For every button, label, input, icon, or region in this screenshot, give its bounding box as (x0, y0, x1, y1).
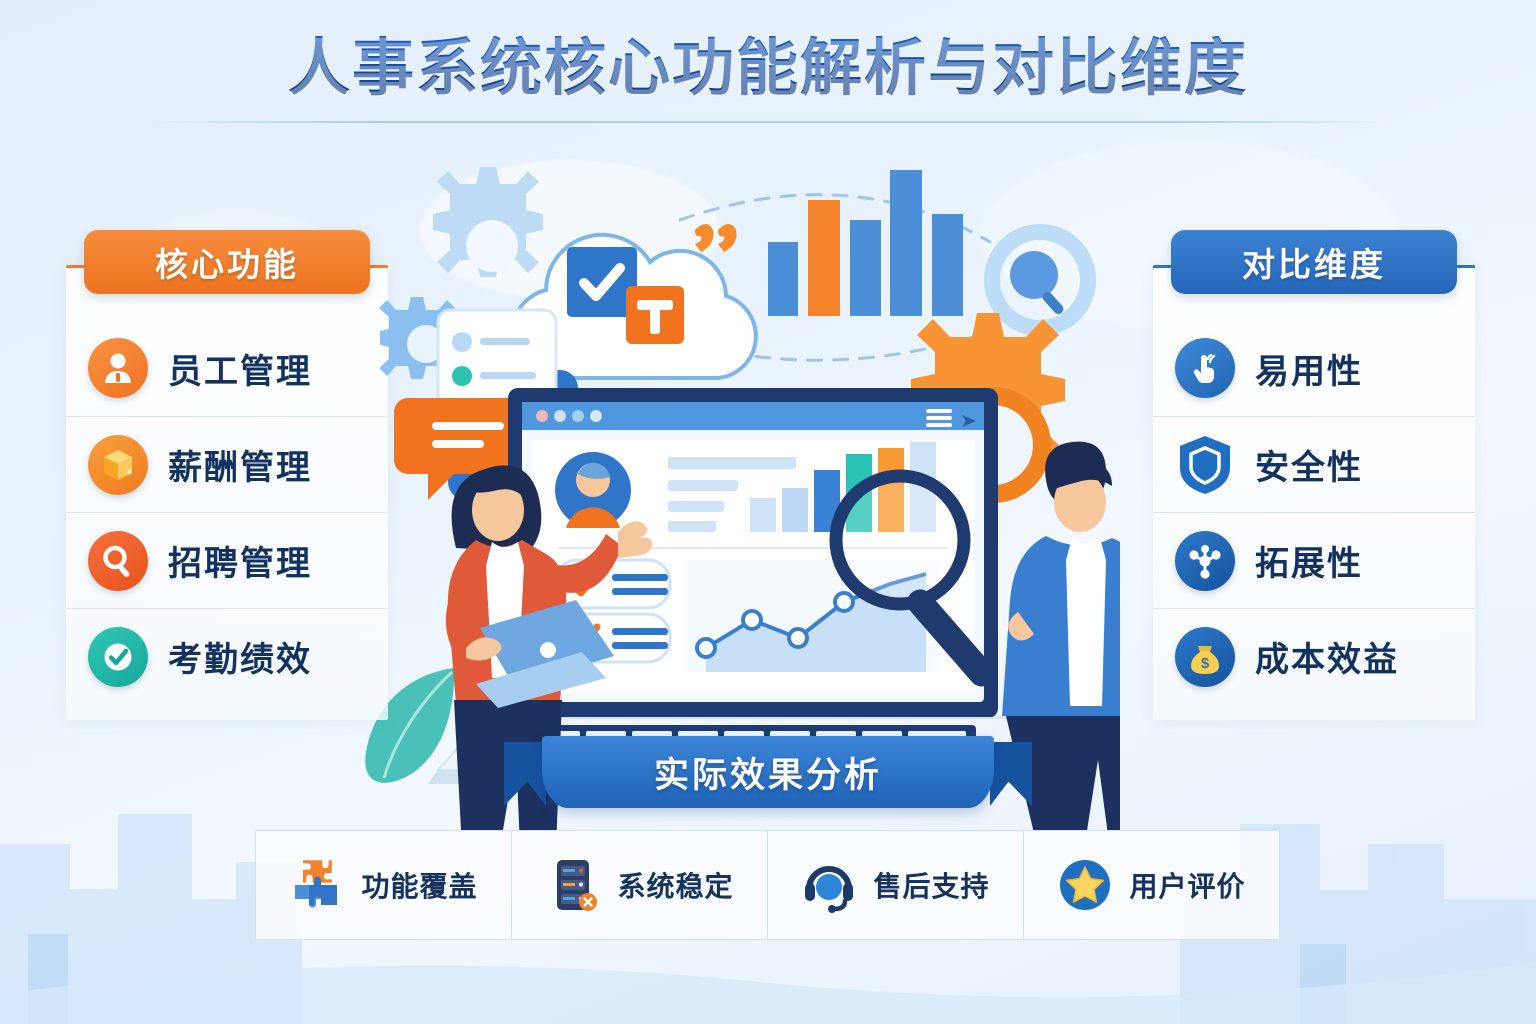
bottom-item-support[interactable]: 售后支持 (767, 831, 1023, 939)
core-functions-list: 员工管理 ￥ 薪酬管理 招聘管理 (66, 320, 388, 704)
bottom-feature-strip: 功能覆盖 系统稳定 (255, 830, 1280, 940)
magnifier-badge-icon (992, 232, 1088, 328)
core-function-label: 考勤绩效 (168, 632, 312, 681)
bottom-item-label: 功能覆盖 (361, 865, 477, 905)
comparison-dimensions-panel: 对比维度 易用性 安全性 (1153, 265, 1475, 720)
click-hand-icon (1175, 338, 1235, 398)
quote-mark (695, 224, 737, 252)
comparison-dimensions-header: 对比维度 (1171, 230, 1457, 294)
core-functions-header: 核心功能 (84, 230, 370, 294)
core-function-item-employee[interactable]: 员工管理 (66, 320, 388, 416)
hamburger-menu-icon (926, 409, 952, 427)
bar-chart-decoration (768, 170, 963, 316)
title-divider (148, 121, 1388, 123)
comparison-item-security[interactable]: 安全性 (1153, 416, 1475, 512)
bottom-item-stability[interactable]: 系统稳定 (511, 831, 767, 939)
core-function-item-attendance[interactable]: 考勤绩效 (66, 608, 388, 704)
core-function-label: 招聘管理 (168, 536, 312, 585)
page-title: 人事系统核心功能解析与对比维度 (0, 36, 1536, 103)
network-nodes-icon (1175, 531, 1235, 591)
shield-icon (1175, 433, 1235, 497)
comparison-item-label: 拓展性 (1255, 536, 1363, 585)
money-bag-icon: $ (1175, 627, 1235, 687)
comparison-dimensions-list: 易用性 安全性 (1153, 320, 1475, 704)
bottom-item-coverage[interactable]: 功能覆盖 (256, 831, 511, 939)
center-illustration (380, 150, 1120, 830)
bottom-item-label: 售后支持 (873, 865, 989, 905)
comparison-item-label: 成本效益 (1255, 632, 1399, 681)
puzzle-icon (289, 857, 345, 913)
comparison-item-cost[interactable]: $ 成本效益 (1153, 608, 1475, 704)
ribbon-banner: 实际效果分析 (542, 736, 994, 808)
core-function-item-recruit[interactable]: 招聘管理 (66, 512, 388, 608)
bottom-item-label: 系统稳定 (617, 865, 733, 905)
comparison-item-label: 易用性 (1255, 344, 1363, 393)
ribbon-label: 实际效果分析 (654, 747, 882, 798)
bottom-item-label: 用户评价 (1129, 865, 1245, 905)
svg-text:￥: ￥ (125, 467, 134, 477)
comparison-item-label: 安全性 (1255, 440, 1363, 489)
magnifier-icon (88, 531, 148, 591)
comparison-item-usability[interactable]: 易用性 (1153, 320, 1475, 416)
comparison-item-scalability[interactable]: 拓展性 (1153, 512, 1475, 608)
core-function-label: 员工管理 (168, 344, 312, 393)
bottom-item-rating[interactable]: 用户评价 (1023, 831, 1279, 939)
user-profile-icon (88, 338, 148, 398)
gear-icon-large-light (433, 167, 543, 277)
title-block: 人事系统核心功能解析与对比维度 (0, 36, 1536, 123)
check-circle-icon (88, 627, 148, 687)
svg-text:$: $ (1201, 655, 1210, 672)
star-badge-icon (1057, 857, 1113, 913)
server-rack-icon (545, 857, 601, 913)
package-box-icon: ￥ (88, 435, 148, 495)
headset-icon (801, 857, 857, 913)
core-function-label: 薪酬管理 (168, 440, 312, 489)
core-function-item-payroll[interactable]: ￥ 薪酬管理 (66, 416, 388, 512)
core-functions-panel: 核心功能 员工管理 ￥ 薪酬管理 (66, 265, 388, 720)
